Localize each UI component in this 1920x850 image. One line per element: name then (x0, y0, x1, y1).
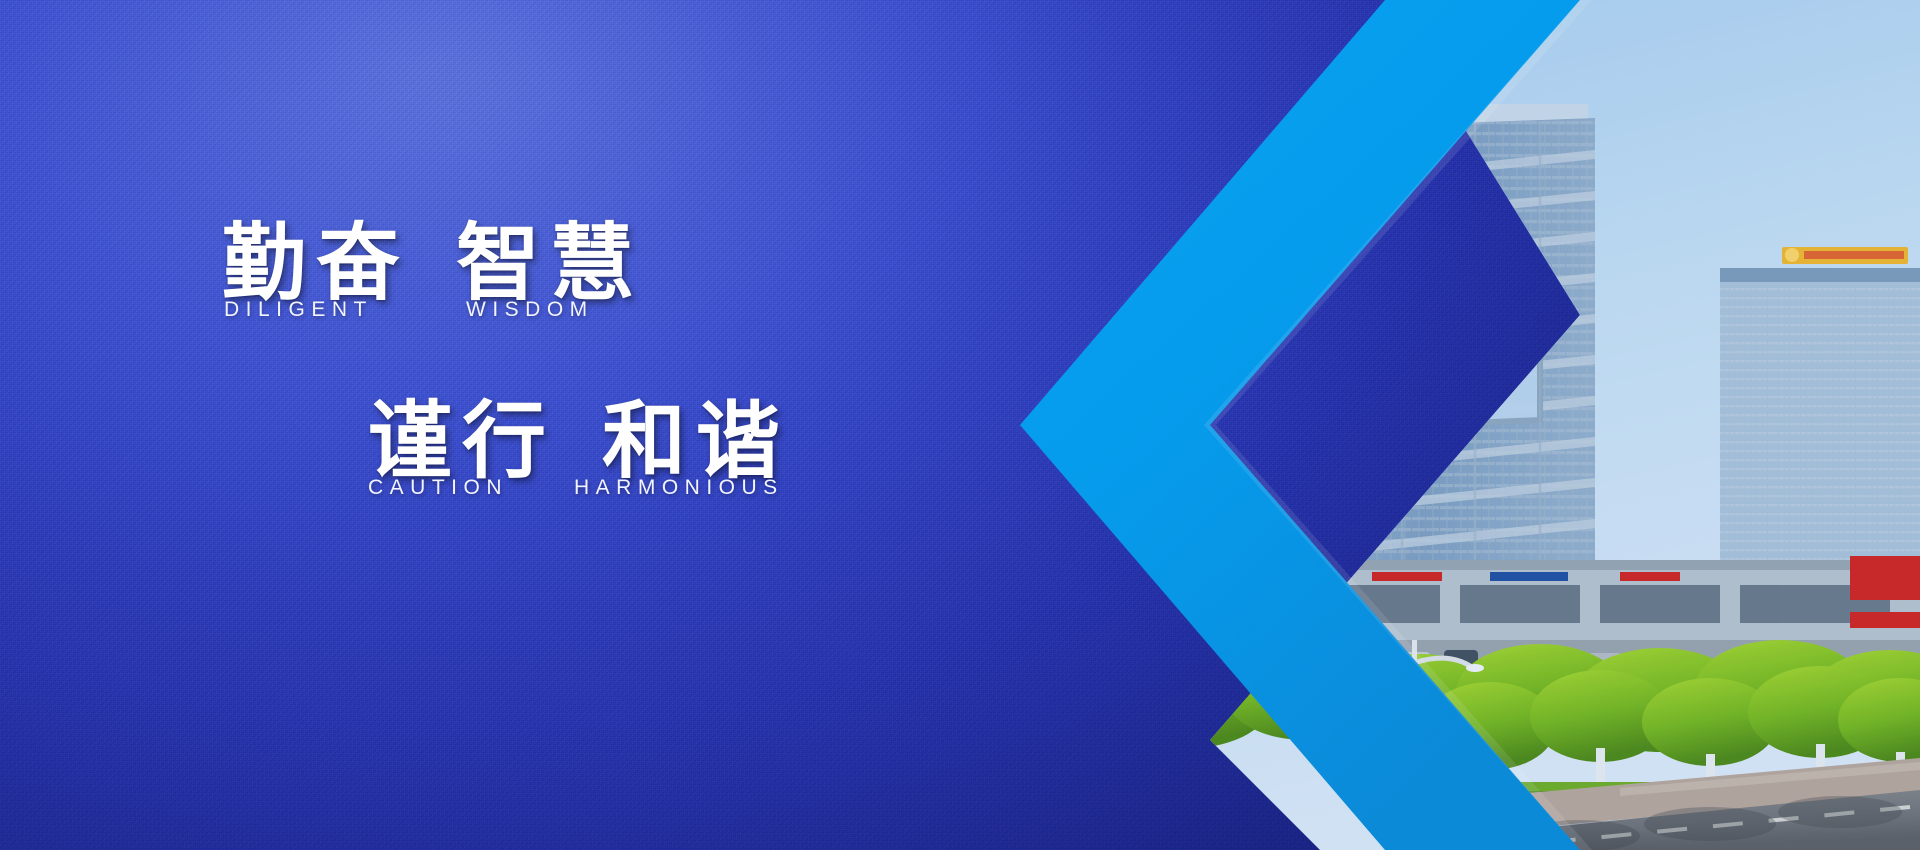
chevron-photo-composition (1020, 0, 1920, 850)
banner-right-artwork (1020, 0, 1920, 850)
slogan-1-english-left: DILIGENT (224, 298, 466, 322)
slogan-line-1-english: DILIGENT WISDOM (224, 298, 594, 322)
slogan-line-2-english: CAUTION HARMONIOUS (368, 476, 784, 500)
culture-banner: 勤奋智慧 DILIGENT WISDOM 谨行和谐 CAUTION HARMON… (0, 0, 1920, 850)
slogan-2-english-right: HARMONIOUS (574, 476, 784, 500)
slogan-2-english-left: CAUTION (368, 476, 574, 500)
slogan-text-block: 勤奋智慧 DILIGENT WISDOM 谨行和谐 CAUTION HARMON… (0, 0, 1020, 850)
slogan-1-english-right: WISDOM (466, 298, 594, 322)
